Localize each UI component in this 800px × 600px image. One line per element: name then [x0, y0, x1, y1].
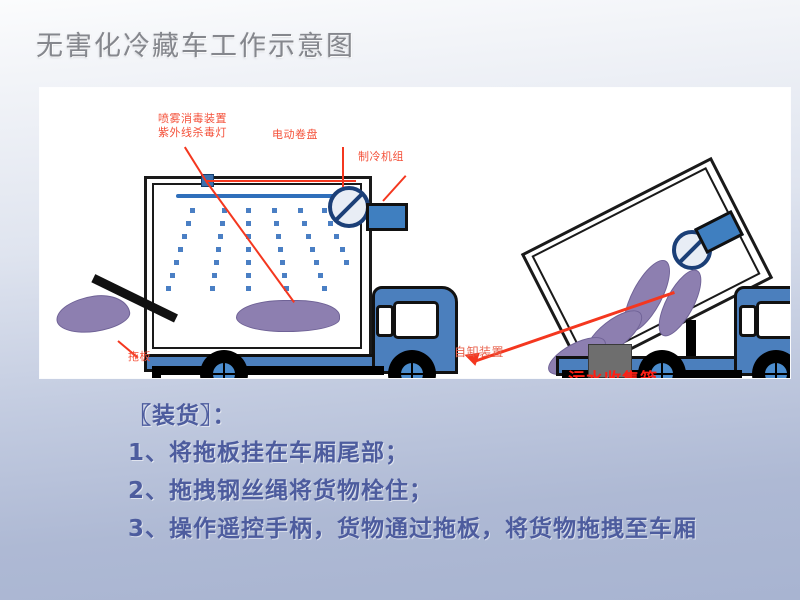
spray-dot — [314, 260, 319, 265]
diagram-canvas: 喷雾消毒装置 紫外线杀毒灯 电动卷盘 制冷机组 拖板 自卸装置 污水收集箱 — [40, 88, 790, 378]
right-cab-window-main — [756, 301, 790, 339]
spray-dot — [214, 260, 219, 265]
spray-dot — [322, 208, 327, 213]
left-frame-beam — [152, 366, 384, 375]
reel-slash — [333, 191, 364, 222]
spray-dot — [186, 221, 191, 226]
label-electric-reel: 电动卷盘 — [272, 128, 318, 141]
content-heading: 〖装货〗： — [128, 398, 788, 434]
spray-dot — [216, 247, 221, 252]
content-step-2: 2、拖拽钢丝绳将货物栓住； — [128, 472, 788, 510]
pointer-line-uv — [206, 180, 356, 182]
spray-dot — [246, 273, 251, 278]
electric-reel-icon — [328, 186, 370, 228]
left-frame-leg — [152, 366, 161, 378]
spray-dot — [190, 208, 195, 213]
left-cab-window-side — [376, 305, 394, 337]
spray-dot — [210, 286, 215, 291]
spray-dot — [302, 221, 307, 226]
carcass-blob — [236, 300, 340, 332]
spray-bar — [176, 194, 342, 198]
label-spray-line2: 紫外线杀毒灯 — [158, 126, 227, 140]
spray-dot — [306, 234, 311, 239]
carcass-on-ramp — [54, 291, 132, 337]
spray-dot — [298, 208, 303, 213]
label-self-unload: 自卸装置 — [454, 346, 504, 359]
wheel-hub — [765, 363, 787, 378]
diagram-panel: 喷雾消毒装置 紫外线杀毒灯 电动卷盘 制冷机组 拖板 自卸装置 污水收集箱 — [40, 88, 790, 378]
label-spray-disinfection: 喷雾消毒装置 紫外线杀毒灯 — [158, 112, 227, 140]
spray-dot — [310, 247, 315, 252]
spray-dot — [246, 221, 251, 226]
spray-dot — [272, 208, 277, 213]
spray-dot — [174, 260, 179, 265]
spray-dot — [246, 286, 251, 291]
label-spray-line1: 喷雾消毒装置 — [158, 112, 227, 126]
spray-dot — [328, 221, 333, 226]
spray-dot — [282, 273, 287, 278]
content-block: 〖装货〗： 1、将拖板挂在车厢尾部； 2、拖拽钢丝绳将货物栓住； 3、操作遥控手… — [128, 398, 788, 548]
content-step-3: 3、操作遥控手柄，货物通过拖板，将货物拖拽至车厢 — [128, 510, 788, 548]
spray-dot — [274, 221, 279, 226]
label-sewage-tank: 污水收集箱 — [568, 374, 658, 378]
spray-dot — [182, 234, 187, 239]
spray-dot — [280, 260, 285, 265]
pointer-line-reel — [342, 147, 344, 187]
spray-dot — [278, 247, 283, 252]
spray-dot — [334, 234, 339, 239]
spray-dot — [246, 247, 251, 252]
wheel-hub — [401, 363, 423, 378]
spray-dot — [340, 247, 345, 252]
spray-dot — [212, 273, 217, 278]
label-drag-board: 拖板 — [128, 350, 151, 363]
spray-dot — [218, 234, 223, 239]
content-step-1: 1、将拖板挂在车厢尾部； — [128, 434, 788, 472]
spray-dot — [220, 221, 225, 226]
spray-dot — [276, 234, 281, 239]
spray-dot — [318, 273, 323, 278]
right-cab-window-side — [739, 305, 757, 337]
wheel-hub — [213, 363, 235, 378]
page-title: 无害化冷藏车工作示意图 — [36, 24, 355, 63]
spray-dot — [246, 208, 251, 213]
cooling-unit — [366, 203, 408, 231]
left-cab-window-main — [393, 301, 439, 339]
label-cooling-unit: 制冷机组 — [358, 150, 404, 163]
pointer-line-cooler — [382, 175, 406, 202]
spray-dot — [166, 286, 171, 291]
spray-dot — [178, 247, 183, 252]
spray-dot — [322, 286, 327, 291]
slide-root: 无害化冷藏车工作示意图 — [0, 0, 800, 600]
spray-dot — [344, 260, 349, 265]
spray-dot — [246, 260, 251, 265]
spray-dot — [170, 273, 175, 278]
